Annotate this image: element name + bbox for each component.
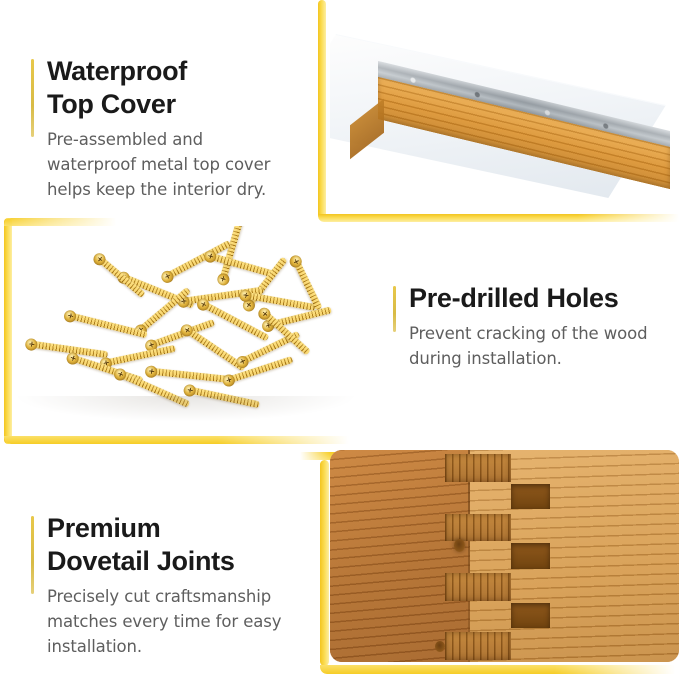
feature-heading-line1: Waterproof [47, 55, 293, 88]
feature-body-text: Precisely cut craftsmanship matches ever… [47, 584, 303, 659]
dovetail-right-board [470, 450, 679, 662]
accent-bar [31, 516, 34, 594]
feature-text-waterproof-top-cover: Waterproof Top Cover Pre-assembled and w… [31, 55, 293, 202]
frame-bottom-edge [318, 214, 679, 222]
dovetail-pin [445, 514, 511, 542]
feature-heading-line2: Dovetail Joints [47, 545, 303, 578]
dovetail-pin [445, 573, 511, 601]
accent-bar [31, 59, 34, 137]
dovetail-joint-photo [330, 450, 679, 662]
frame-left-edge [318, 0, 326, 216]
feature-text-premium-dovetail-joints: Premium Dovetail Joints Precisely cut cr… [31, 512, 303, 659]
infographic-canvas: Waterproof Top Cover Pre-assembled and w… [0, 0, 679, 677]
wood-knot [454, 539, 465, 552]
feature-text-pre-drilled-holes: Pre-drilled Holes Prevent cracking of th… [393, 282, 661, 371]
dovetail-socket [511, 603, 549, 628]
feature-heading-line2: Top Cover [47, 88, 293, 121]
frame-left-edge [320, 460, 329, 666]
waterproof-top-cover-photo [330, 8, 679, 213]
feature-body-text: Prevent cracking of the wood during inst… [409, 321, 661, 371]
frame-left-edge [4, 218, 12, 444]
dovetail-socket [511, 543, 549, 568]
dovetail-pin [445, 454, 511, 482]
dovetail-left-board [330, 450, 470, 662]
frame-bottom-edge [320, 665, 675, 674]
screw-pile-illustration [14, 226, 358, 436]
panel-illustration [330, 24, 679, 194]
wood-knot [435, 641, 445, 652]
feature-heading-line1: Pre-drilled Holes [409, 282, 661, 315]
feature-heading-line1: Premium [47, 512, 303, 545]
accent-bar [393, 286, 396, 332]
dovetail-pin [445, 632, 511, 660]
frame-bottom-edge [4, 436, 349, 444]
screws-photo [14, 226, 358, 436]
frame-top-edge [4, 218, 334, 226]
dovetail-seam [468, 450, 470, 662]
feature-body-text: Pre-assembled and waterproof metal top c… [47, 127, 293, 202]
dovetail-socket [511, 484, 549, 509]
